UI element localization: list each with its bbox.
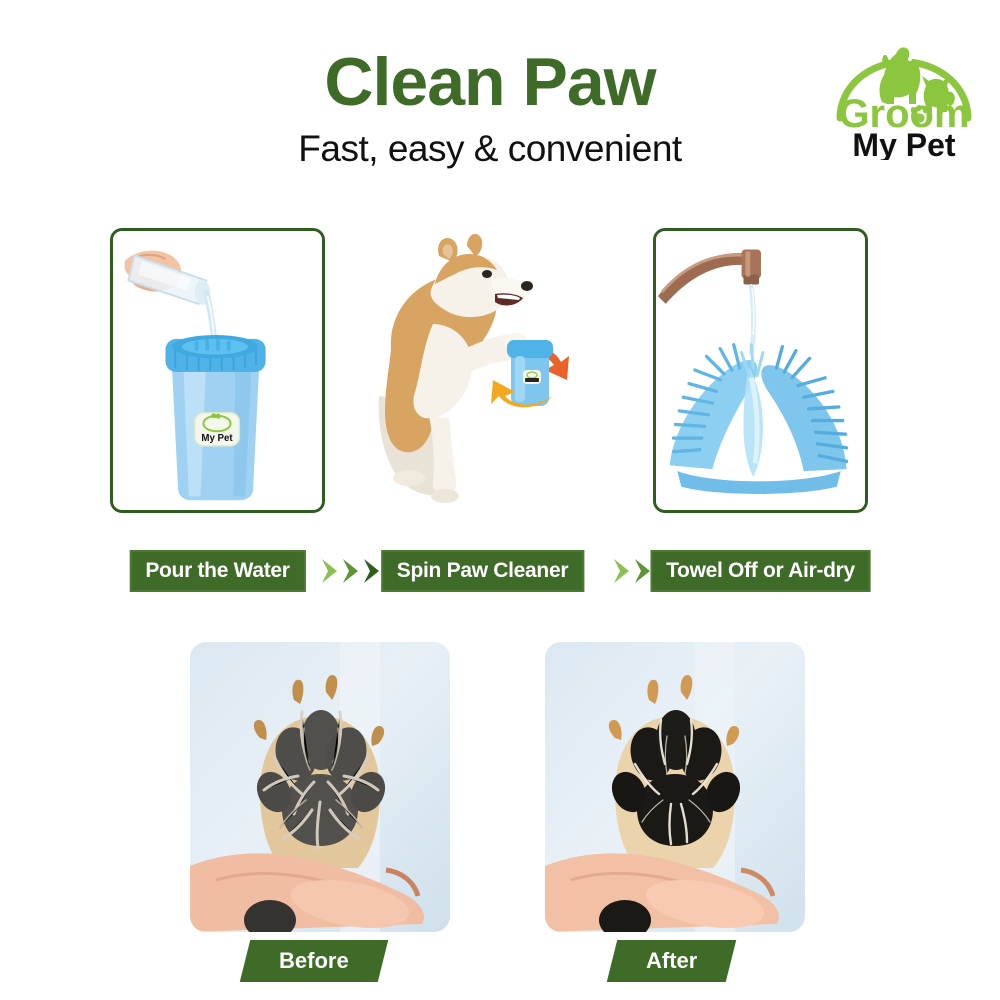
page-title: Clean Paw [180, 48, 800, 116]
after-label: After [607, 940, 737, 982]
logo-mypet-text: My Pet [852, 127, 955, 160]
after-image [545, 642, 805, 932]
chevron-right-icon [320, 556, 340, 586]
step-caption: Towel Off or Air-dry [650, 550, 871, 592]
before-label-text: Before [279, 948, 349, 974]
chevron-right-icon [341, 556, 361, 586]
step-caption: Spin Paw Cleaner [381, 550, 584, 592]
cup-brand-badge: My Pet [195, 413, 240, 446]
step-towel-off-or-air-dry: Towel Off or Air-dry [653, 228, 868, 598]
step-spin-paw-cleaner: Spin Paw Cleaner [375, 228, 590, 598]
before-image [190, 642, 450, 932]
brand-logo[interactable]: Groom My Pet [826, 32, 982, 160]
arrow-group-step1-step2 [320, 556, 382, 586]
title-block: Clean Paw Fast, easy & convenient [180, 48, 800, 170]
chevron-right-icon [612, 556, 632, 586]
steps-row: My Pet Pour the Water [0, 228, 1000, 598]
after-label-text: After [646, 948, 697, 974]
promo-infographic-page: Clean Paw Fast, easy & convenient [0, 0, 1000, 1000]
step-image-spin-paw-cleaner [375, 228, 590, 513]
step-image-pour-water: My Pet [110, 228, 325, 513]
step-caption: Pour the Water [129, 550, 305, 592]
step-pour-the-water: My Pet Pour the Water [110, 228, 325, 598]
page-subtitle: Fast, easy & convenient [180, 128, 800, 170]
svg-text:My Pet: My Pet [201, 433, 233, 444]
before-label: Before [240, 940, 388, 982]
before-after-section: Before After [0, 630, 1000, 970]
header: Clean Paw Fast, easy & convenient [0, 0, 1000, 200]
step-image-rinse-brush [653, 228, 868, 513]
